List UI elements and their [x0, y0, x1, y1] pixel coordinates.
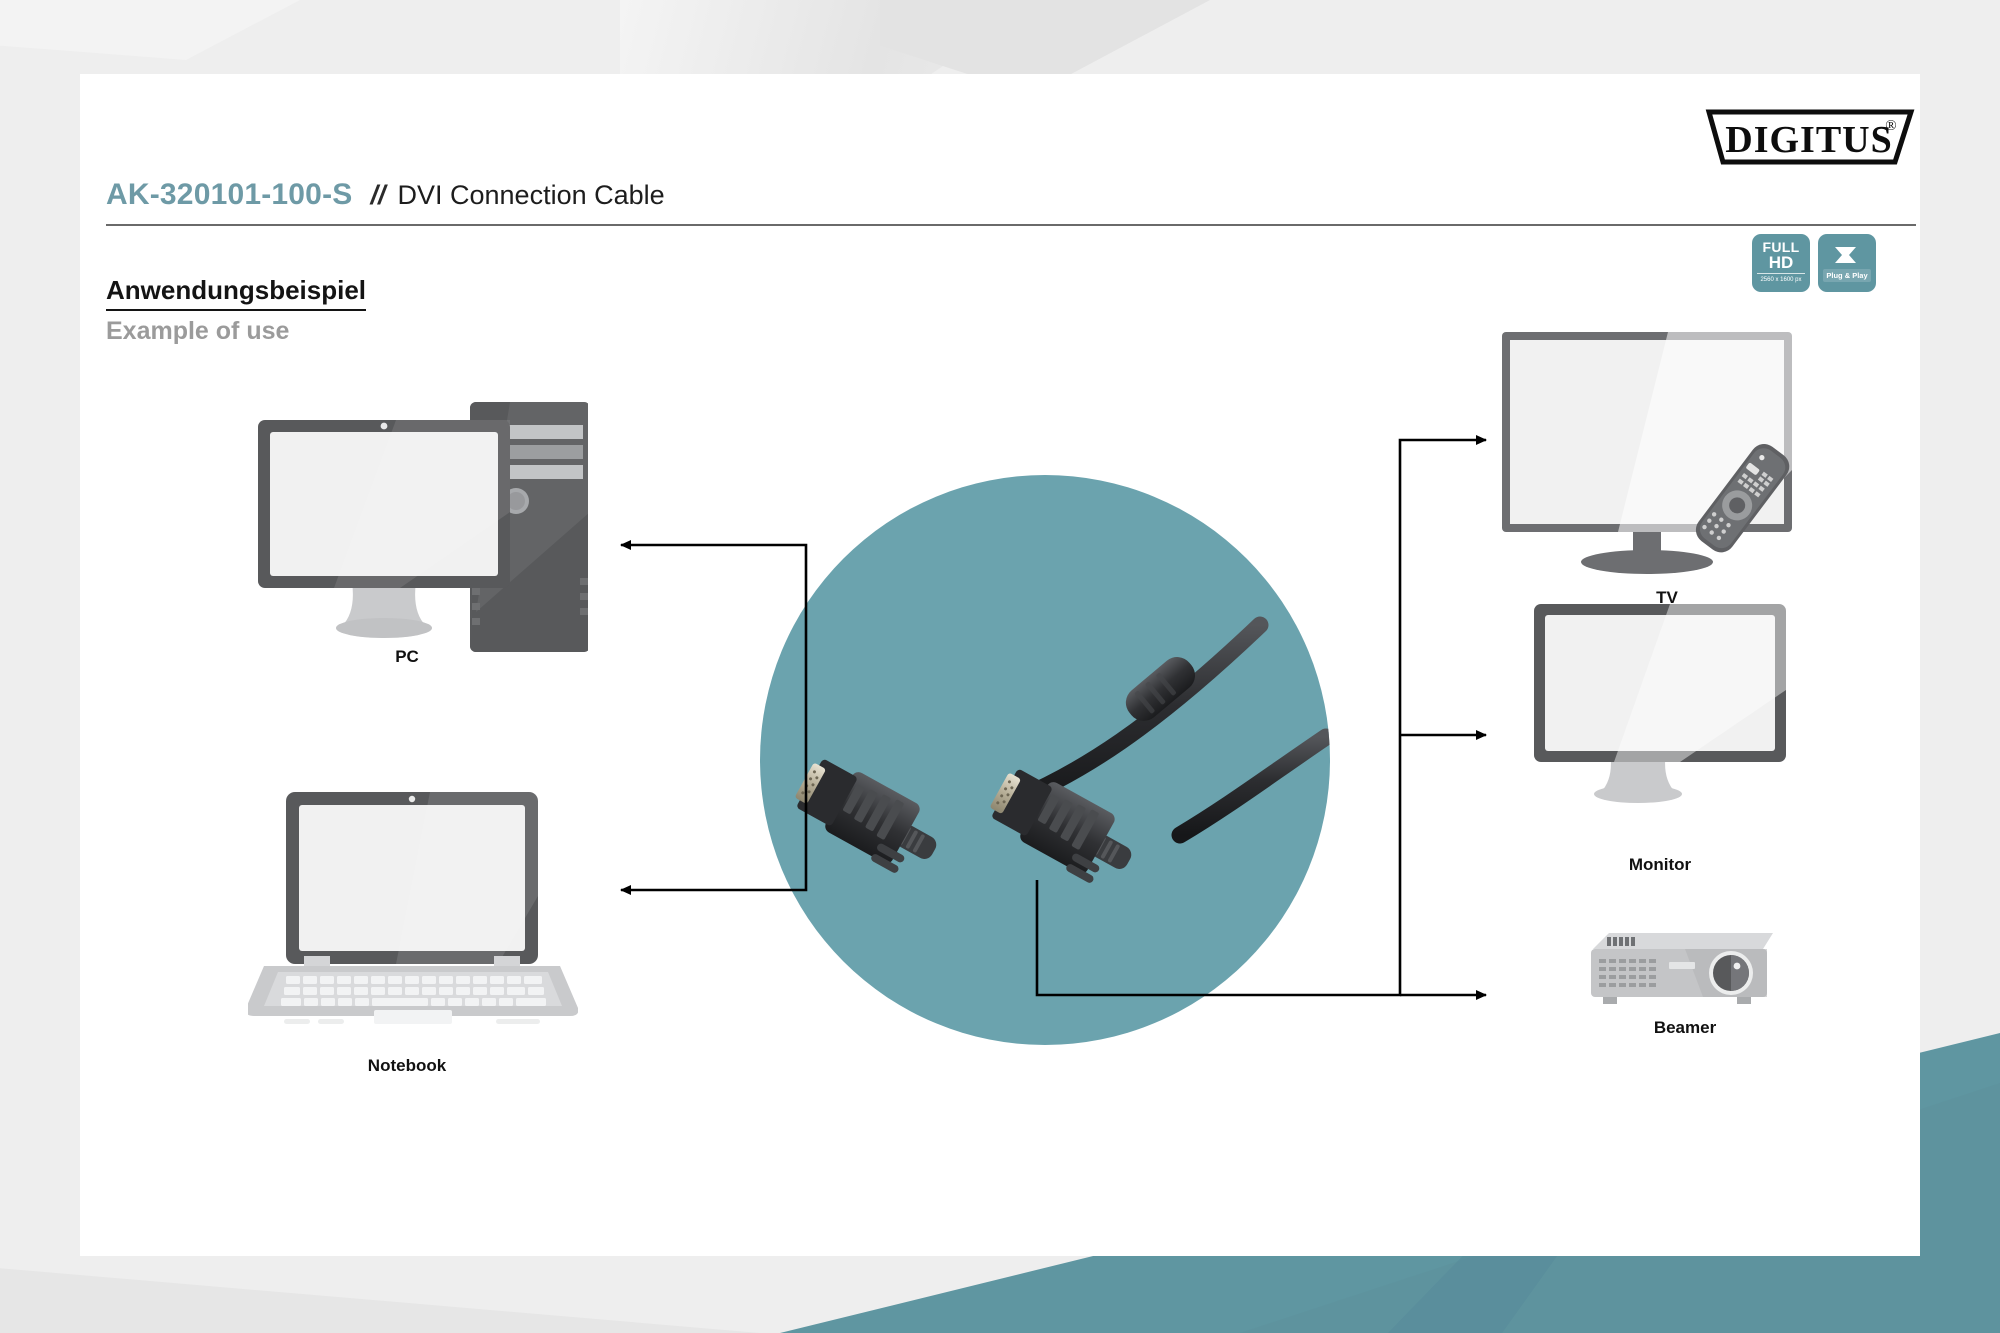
- device-pc: [248, 392, 588, 662]
- section-title-de: Anwendungsbeispiel: [106, 275, 366, 311]
- product-image-circle: [760, 475, 1330, 1045]
- device-label-notebook: Notebook: [287, 1056, 527, 1076]
- product-sku: AK-320101-100-S: [106, 178, 352, 212]
- badge-full-hd: FULL HD 2560 x 1600 px: [1752, 234, 1810, 292]
- feature-badges: FULL HD 2560 x 1600 px Plug & Play: [1752, 234, 1876, 292]
- title-divider: [106, 224, 1916, 226]
- digitus-logo-text: DIGITUS: [1725, 119, 1893, 161]
- slide-page: DIGITUS ® AK-320101-100-S // DVI Connect…: [0, 0, 2000, 1333]
- device-label-monitor: Monitor: [1540, 855, 1780, 875]
- digitus-logo: DIGITUS ®: [1705, 108, 1915, 170]
- badge-plug-and-play: Plug & Play: [1818, 234, 1876, 292]
- section-title-en: Example of use: [106, 317, 289, 346]
- badge-full-hd-resolution: 2560 x 1600 px: [1757, 273, 1805, 285]
- device-tv: [1500, 330, 1830, 580]
- title-separator: //: [370, 180, 385, 211]
- badge-full-hd-line2: HD: [1769, 254, 1794, 271]
- device-label-beamer: Beamer: [1565, 1018, 1805, 1038]
- badge-plug-and-play-label: Plug & Play: [1823, 269, 1870, 282]
- bg-shape-top-left: [0, 0, 300, 60]
- device-monitor: [1530, 600, 1790, 840]
- dvi-cable-illustration: [760, 475, 1330, 1045]
- device-label-pc: PC: [287, 647, 527, 667]
- device-beamer: [1585, 925, 1785, 1015]
- device-notebook: [248, 786, 578, 1026]
- play-arrow-icon: [1832, 244, 1862, 266]
- product-name: DVI Connection Cable: [398, 180, 665, 211]
- registered-mark: ®: [1885, 118, 1896, 134]
